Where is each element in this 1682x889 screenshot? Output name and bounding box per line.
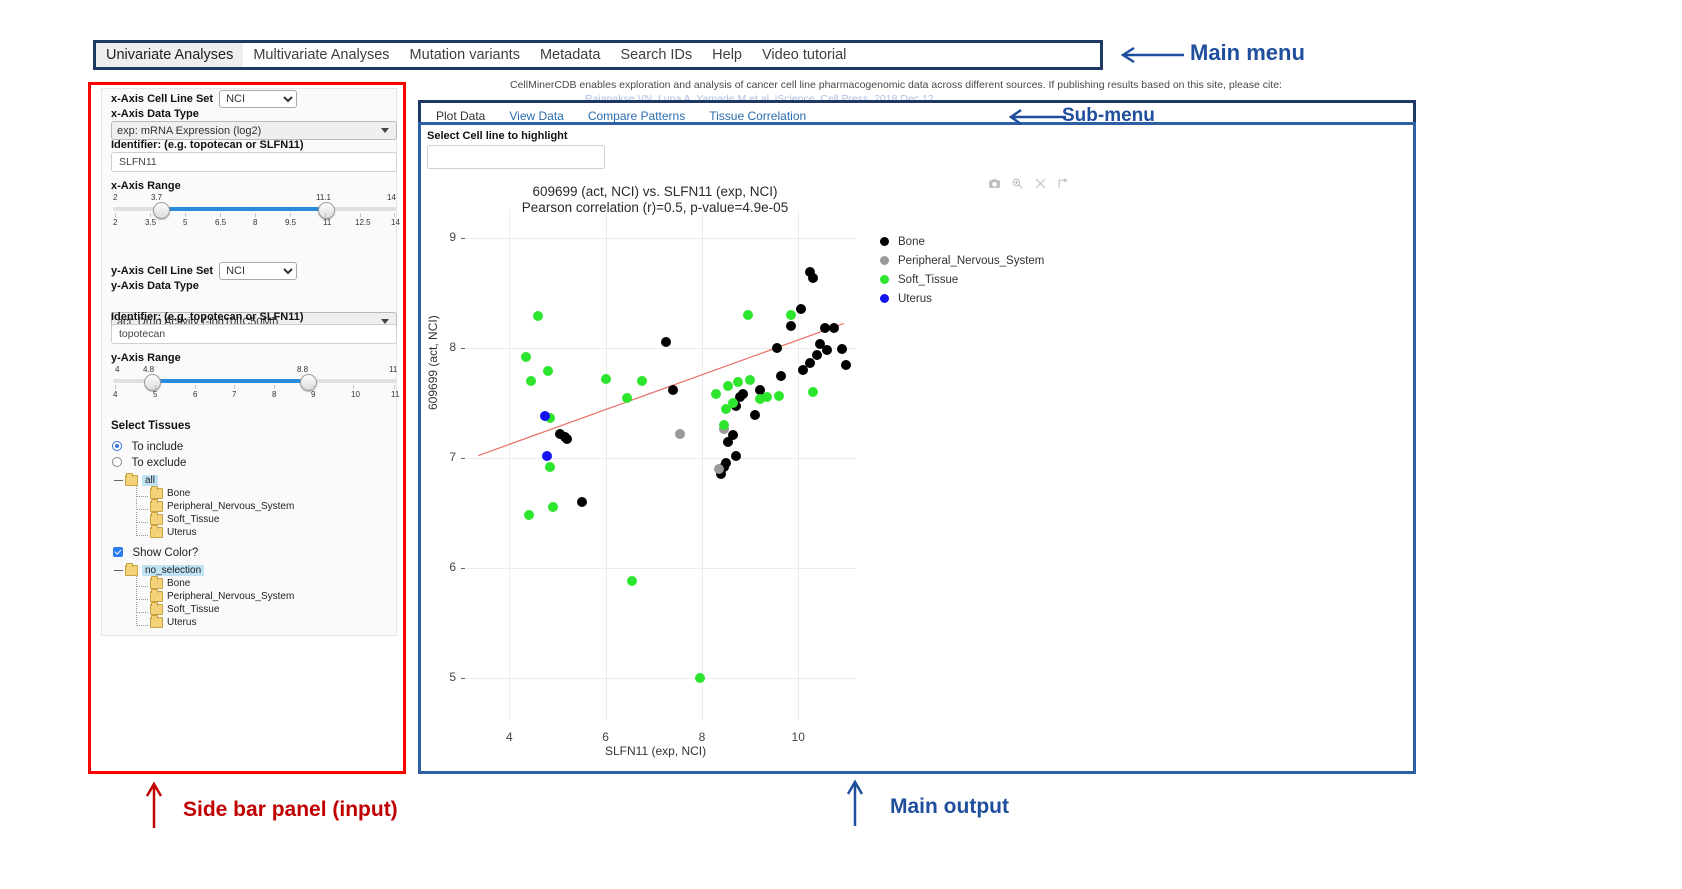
menu-item-univariate-analyses[interactable]: Univariate Analyses <box>96 43 243 67</box>
autoscale-icon[interactable] <box>1057 177 1070 190</box>
x-axis-data-type-label: x-Axis Data Type <box>111 108 199 120</box>
x-axis-range-slider[interactable]: 2 14 3.7 11.1 2 3.5 5 6.5 8 9.5 11 12.5 … <box>113 193 397 231</box>
x-axis-cell-line-set-select[interactable]: NCI <box>219 90 297 108</box>
x-axis-identifier-input[interactable]: SLFN11 <box>111 152 397 172</box>
x-axis-slider-handle-low[interactable] <box>153 202 170 219</box>
menu-item-metadata[interactable]: Metadata <box>530 43 610 67</box>
annotation-main-menu: Main menu <box>1190 40 1305 66</box>
x-axis-range-label: x-Axis Range <box>111 180 181 192</box>
data-point[interactable] <box>542 451 552 461</box>
data-point[interactable] <box>661 337 671 347</box>
data-point[interactable] <box>637 376 647 386</box>
camera-icon[interactable] <box>988 177 1001 190</box>
tissues-exclude-label: To exclude <box>131 457 186 469</box>
data-point[interactable] <box>545 462 555 472</box>
folder-icon <box>150 617 163 628</box>
plotly-modebar[interactable] <box>988 177 1070 190</box>
folder-icon <box>150 578 163 589</box>
menu-item-mutation-variants[interactable]: Mutation variants <box>400 43 530 67</box>
highlight-cell-line-label: Select Cell line to highlight <box>427 130 568 142</box>
legend-label-bone: Bone <box>898 236 925 248</box>
scatter-plot[interactable]: 5678946810 <box>466 210 856 720</box>
y-tick <box>461 678 465 679</box>
chart-title-line1: 609699 (act, NCI) vs. SLFN11 (exp, NCI) <box>430 184 880 200</box>
data-point[interactable] <box>601 374 611 384</box>
x-slider-tick-4: 8 <box>253 218 257 227</box>
data-point[interactable] <box>786 321 796 331</box>
data-point[interactable] <box>808 387 818 397</box>
data-point[interactable] <box>750 410 760 420</box>
legend-swatch-pns <box>880 256 889 265</box>
x-axis-range-max: 14 <box>387 193 396 202</box>
legend-label-uterus: Uterus <box>898 293 932 305</box>
folder-icon <box>125 565 138 576</box>
data-point[interactable] <box>521 352 531 362</box>
menu-item-help[interactable]: Help <box>702 43 752 67</box>
y-axis-identifier-label: Identifier: (e.g. topotecan or SLFN11) <box>111 311 304 323</box>
x-tick-label: 6 <box>591 730 621 744</box>
folder-icon <box>150 488 163 499</box>
x-slider-tick-6: 11 <box>323 218 331 227</box>
y-slider-tick-6: 10 <box>351 390 360 399</box>
tree-label-uterus: Uterus <box>167 527 196 538</box>
select-tissues-heading: Select Tissues <box>111 420 191 432</box>
y-tick-label: 6 <box>430 560 456 574</box>
x-slider-tick-8: 14 <box>391 218 400 227</box>
data-point[interactable] <box>733 377 743 387</box>
y-axis-slider-handle-high[interactable] <box>300 374 317 391</box>
tree-label-no-selection: no_selection <box>142 565 204 576</box>
chevron-down-icon <box>381 128 389 133</box>
tree-label-soft-tissue: Soft_Tissue <box>167 514 219 525</box>
y-tick <box>461 238 465 239</box>
tree-row-child[interactable]: Peripheral_Nervous_System <box>136 590 394 603</box>
data-point[interactable] <box>837 344 847 354</box>
tissue-tree-include[interactable]: all Bone Peripheral_Nervous_System Soft_… <box>114 474 394 539</box>
x-axis-data-type-value: exp: mRNA Expression (log2) <box>117 125 261 137</box>
data-point[interactable] <box>808 273 818 283</box>
tissue-tree-color[interactable]: no_selection Bone Peripheral_Nervous_Sys… <box>114 564 394 629</box>
x-axis-slider-handle-high[interactable] <box>318 202 335 219</box>
x-slider-tick-7: 12.5 <box>355 218 371 227</box>
data-point[interactable] <box>796 304 806 314</box>
arrow-main-menu <box>1120 45 1186 65</box>
tree-row-child[interactable]: Uterus <box>136 526 394 539</box>
menu-item-multivariate-analyses[interactable]: Multivariate Analyses <box>243 43 399 67</box>
x-axis-handle-low-value: 3.7 <box>151 193 162 202</box>
tree-label-bone: Bone <box>167 488 190 499</box>
y-axis-cell-line-set-row: y-Axis Cell Line Set NCI <box>111 262 297 280</box>
x-axis-data-type-select[interactable]: exp: mRNA Expression (log2) <box>111 121 397 140</box>
y-axis-handle-low-value: 4.8 <box>143 365 154 374</box>
data-point[interactable] <box>820 323 830 333</box>
annotation-sub-menu: Sub-menu <box>1062 105 1155 127</box>
y-axis-data-type-label: y-Axis Data Type <box>111 280 199 292</box>
y-axis-range-min: 4 <box>115 365 119 374</box>
tree2-label-uterus: Uterus <box>167 617 196 628</box>
legend-swatch-soft-tissue <box>880 275 889 284</box>
tree-label-all: all <box>142 475 158 486</box>
menu-item-search-ids[interactable]: Search IDs <box>610 43 702 67</box>
citation-text: CellMinerCDB enables exploration and ana… <box>510 79 1510 91</box>
arrow-output <box>845 778 865 828</box>
x-axis-identifier-value: SLFN11 <box>119 156 157 168</box>
x-slider-tick-0: 2 <box>113 218 117 227</box>
y-axis-cell-line-set-select[interactable]: NCI <box>219 262 297 280</box>
show-color-row[interactable]: Show Color? <box>113 543 198 561</box>
y-slider-tick-2: 6 <box>193 390 197 399</box>
x-slider-tick-1: 3.5 <box>145 218 156 227</box>
y-axis-range-label: y-Axis Range <box>111 352 181 364</box>
y-axis-slider-handle-low[interactable] <box>144 374 161 391</box>
folder-icon <box>150 604 163 615</box>
y-slider-tick-4: 8 <box>272 390 276 399</box>
show-color-label: Show Color? <box>132 547 198 559</box>
y-axis-identifier-input[interactable]: topotecan <box>111 324 397 344</box>
tree2-label-soft-tissue: Soft_Tissue <box>167 604 219 615</box>
y-axis-range-max: 11 <box>389 365 397 374</box>
y-tick-label: 7 <box>430 450 456 464</box>
legend-item[interactable]: Soft_Tissue <box>880 270 1044 289</box>
show-color-checkbox[interactable] <box>113 547 123 557</box>
data-point[interactable] <box>786 310 796 320</box>
y-tick-label: 9 <box>430 230 456 244</box>
crosshair-icon[interactable] <box>1034 177 1047 190</box>
x-tick-label: 8 <box>687 730 717 744</box>
y-tick-label: 5 <box>430 670 456 684</box>
y-slider-tick-1: 5 <box>153 390 157 399</box>
x-axis-range-min: 2 <box>113 193 117 202</box>
data-point[interactable] <box>719 420 729 430</box>
folder-icon <box>150 527 163 538</box>
y-tick <box>461 458 465 459</box>
tree2-label-bone: Bone <box>167 578 190 589</box>
main-menu: Univariate Analyses Multivariate Analyse… <box>96 43 856 67</box>
tree-label-pns: Peripheral_Nervous_System <box>167 501 294 512</box>
x-tick-label: 4 <box>494 730 524 744</box>
annotation-sidebar: Side bar panel (input) <box>183 798 398 822</box>
menu-item-video-tutorial[interactable]: Video tutorial <box>752 43 856 67</box>
x-axis-cell-line-set-row: x-Axis Cell Line Set NCI <box>111 90 297 108</box>
tree-row-child[interactable]: Bone <box>136 577 394 590</box>
x-slider-tick-2: 5 <box>183 218 187 227</box>
legend-swatch-bone <box>880 237 889 246</box>
data-point[interactable] <box>675 429 685 439</box>
x-axis-identifier-label: Identifier: (e.g. topotecan or SLFN11) <box>111 139 304 151</box>
data-point[interactable] <box>822 345 832 355</box>
data-point[interactable] <box>714 464 724 474</box>
x-axis-handle-high-value: 11.1 <box>316 193 331 202</box>
highlight-cell-line-input[interactable] <box>427 145 605 169</box>
data-point[interactable] <box>668 385 678 395</box>
legend-swatch-uterus <box>880 294 889 303</box>
folder-icon <box>125 475 138 486</box>
data-point[interactable] <box>695 673 705 683</box>
tree-row-child[interactable]: Bone <box>136 487 394 500</box>
arrow-sub-menu <box>1008 108 1068 126</box>
y-slider-tick-0: 4 <box>113 390 117 399</box>
y-axis-cell-line-set-label: y-Axis Cell Line Set <box>111 265 213 277</box>
collapse-icon[interactable] <box>114 566 123 575</box>
tissues-exclude-radio[interactable] <box>112 457 122 467</box>
tissues-include-label: To include <box>131 441 183 453</box>
legend-item[interactable]: Bone <box>880 232 1044 251</box>
chart-y-axis-label: 609699 (act, NCI) <box>426 315 440 410</box>
data-point[interactable] <box>772 343 782 353</box>
folder-icon <box>150 514 163 525</box>
data-point[interactable] <box>798 365 808 375</box>
collapse-icon[interactable] <box>114 476 123 485</box>
data-point[interactable] <box>743 310 753 320</box>
legend-item[interactable]: Uterus <box>880 289 1044 308</box>
tree-row-child[interactable]: Uterus <box>136 616 394 629</box>
trendline <box>466 210 856 720</box>
zoom-in-icon[interactable] <box>1011 177 1024 190</box>
tree-row-child[interactable]: Peripheral_Nervous_System <box>136 500 394 513</box>
annotation-output: Main output <box>890 795 1009 819</box>
data-point[interactable] <box>745 375 755 385</box>
y-slider-tick-3: 7 <box>232 390 236 399</box>
data-point[interactable] <box>577 497 587 507</box>
folder-icon <box>150 501 163 512</box>
y-slider-tick-5: 9 <box>311 390 315 399</box>
tissues-exclude-radio-row[interactable]: To exclude <box>112 453 186 471</box>
x-slider-tick-5: 9.5 <box>285 218 296 227</box>
y-axis-identifier-value: topotecan <box>119 328 165 340</box>
tree-row-child[interactable]: Soft_Tissue <box>136 513 394 526</box>
arrow-sidebar <box>144 780 164 830</box>
y-axis-range-slider[interactable]: 4 11 4.8 8.8 4 5 6 7 8 9 10 11 <box>113 365 397 403</box>
folder-icon <box>150 591 163 602</box>
legend-label-soft-tissue: Soft_Tissue <box>898 274 958 286</box>
y-slider-tick-7: 11 <box>391 390 399 399</box>
y-tick <box>461 568 465 569</box>
x-slider-tick-3: 6.5 <box>215 218 226 227</box>
x-tick-label: 10 <box>783 730 813 744</box>
legend-label-pns: Peripheral_Nervous_System <box>898 255 1044 267</box>
x-axis-cell-line-set-label: x-Axis Cell Line Set <box>111 93 213 105</box>
legend-item[interactable]: Peripheral_Nervous_System <box>880 251 1044 270</box>
chart-x-axis-label: SLFN11 (exp, NCI) <box>605 744 706 758</box>
tissues-include-radio[interactable] <box>112 441 122 451</box>
chart-legend[interactable]: Bone Peripheral_Nervous_System Soft_Tiss… <box>880 232 1044 308</box>
y-tick <box>461 348 465 349</box>
data-point[interactable] <box>526 376 536 386</box>
data-point[interactable] <box>533 311 543 321</box>
data-point[interactable] <box>543 366 553 376</box>
data-point[interactable] <box>731 451 741 461</box>
tree-row-child[interactable]: Soft_Tissue <box>136 603 394 616</box>
tree2-label-pns: Peripheral_Nervous_System <box>167 591 294 602</box>
y-axis-handle-high-value: 8.8 <box>297 365 308 374</box>
data-point[interactable] <box>524 510 534 520</box>
